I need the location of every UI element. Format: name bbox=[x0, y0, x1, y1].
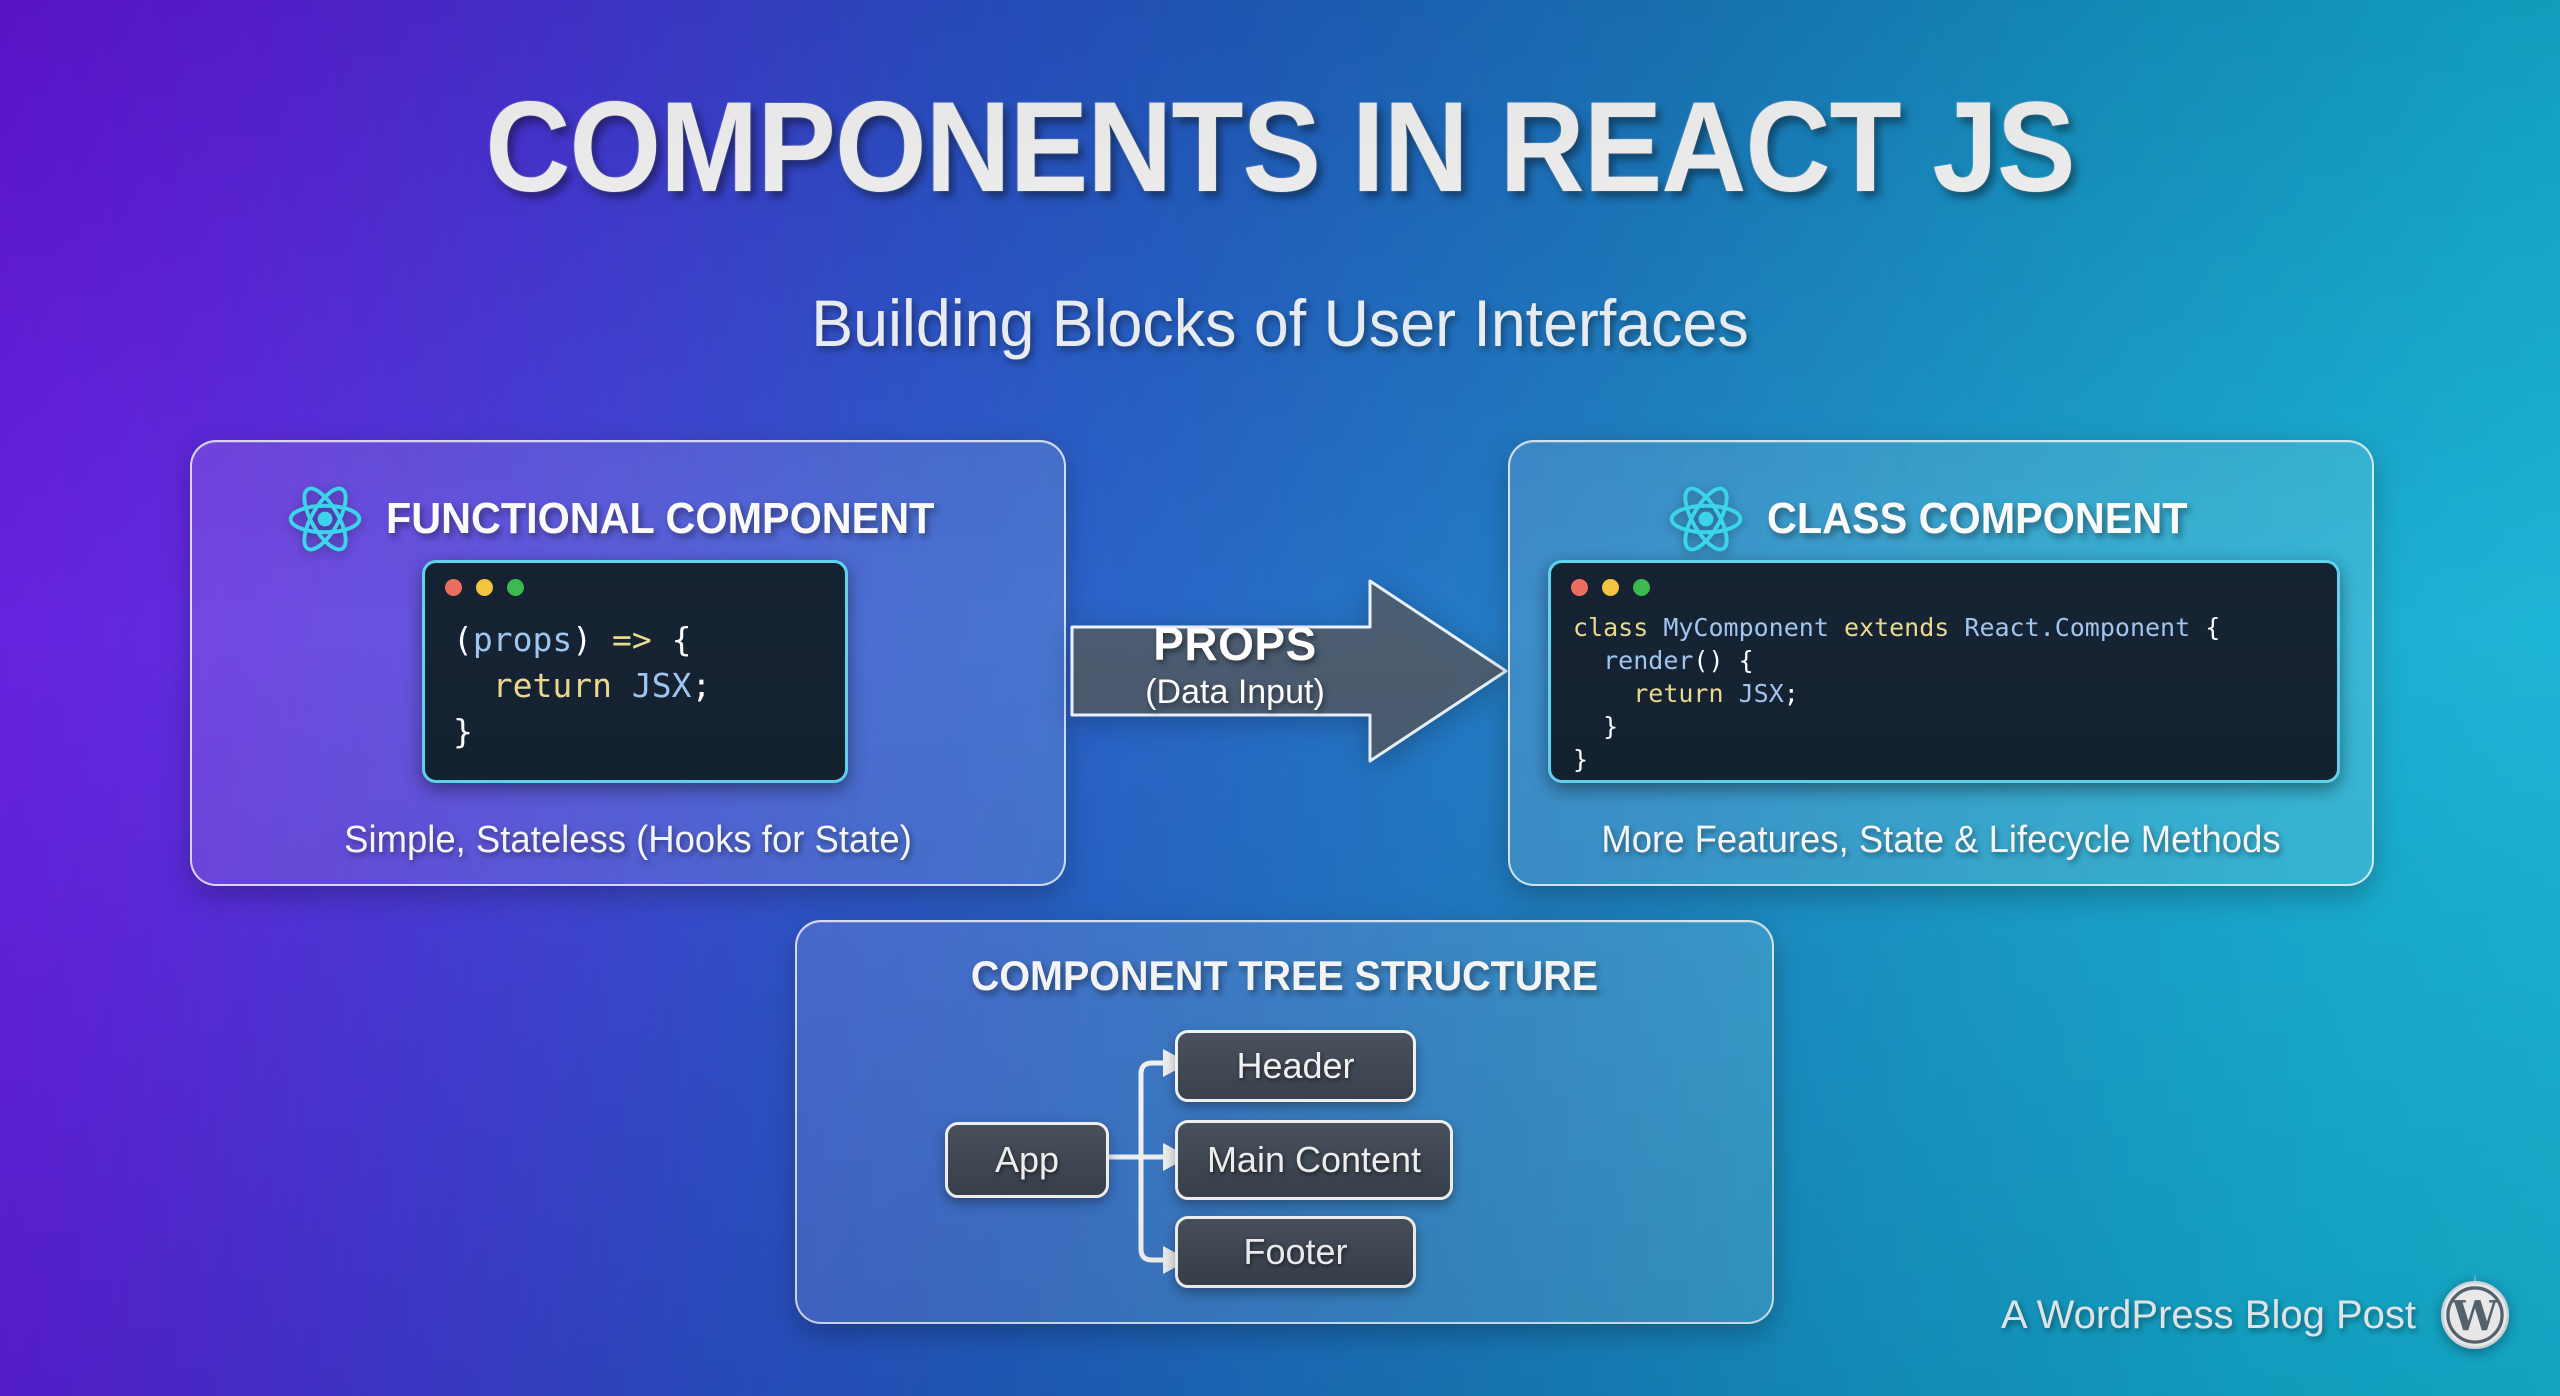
props-arrow: PROPS (Data Input) bbox=[1070, 565, 1510, 777]
functional-component-card: FUNCTIONAL COMPONENT (props) => { return… bbox=[190, 440, 1066, 886]
tree-node-app[interactable]: App bbox=[945, 1122, 1109, 1198]
props-arrow-labels: PROPS (Data Input) bbox=[1070, 617, 1400, 712]
infographic-canvas: COMPONENTS IN REACT JS Building Blocks o… bbox=[0, 0, 2560, 1396]
class-card-header: CLASS COMPONENT bbox=[1510, 480, 2372, 558]
component-tree-panel: COMPONENT TREE STRUCTURE bbox=[795, 920, 1774, 1324]
functional-code-text: (props) => { return JSX; } bbox=[453, 617, 835, 755]
window-traffic-lights bbox=[1571, 579, 1650, 596]
close-dot-icon bbox=[1571, 579, 1588, 596]
wordpress-badge-text: A WordPress Blog Post bbox=[2001, 1293, 2416, 1338]
window-traffic-lights bbox=[445, 579, 524, 596]
component-tree-title: COMPONENT TREE STRUCTURE bbox=[826, 952, 1743, 1000]
functional-card-caption: Simple, Stateless (Hooks for State) bbox=[209, 819, 1046, 862]
wordpress-logo-icon: W bbox=[2434, 1274, 2516, 1356]
class-code-text: class MyComponent extends React.Componen… bbox=[1573, 611, 2327, 776]
wordpress-badge: A WordPress Blog Post W bbox=[2001, 1274, 2516, 1356]
react-atom-icon bbox=[1667, 480, 1745, 558]
page-title: COMPONENTS IN REACT JS bbox=[102, 84, 2457, 212]
minimize-dot-icon bbox=[1602, 579, 1619, 596]
page-subtitle: Building Blocks of User Interfaces bbox=[64, 290, 2496, 356]
functional-card-header: FUNCTIONAL COMPONENT bbox=[192, 480, 1064, 558]
props-sublabel: (Data Input) bbox=[1070, 673, 1400, 712]
props-label: PROPS bbox=[1070, 617, 1400, 671]
functional-card-title: FUNCTIONAL COMPONENT bbox=[386, 494, 934, 544]
functional-code-window: (props) => { return JSX; } bbox=[422, 560, 848, 783]
maximize-dot-icon bbox=[507, 579, 524, 596]
class-code-window: class MyComponent extends React.Componen… bbox=[1548, 560, 2340, 783]
tree-node-header[interactable]: Header bbox=[1175, 1030, 1416, 1102]
class-component-card: CLASS COMPONENT class MyComponent extend… bbox=[1508, 440, 2374, 886]
minimize-dot-icon bbox=[476, 579, 493, 596]
component-tree-diagram: App Header Main Content Footer bbox=[797, 1022, 1772, 1312]
class-card-caption: More Features, State & Lifecycle Methods bbox=[1527, 819, 2355, 862]
react-atom-icon bbox=[286, 480, 364, 558]
svg-text:W: W bbox=[2451, 1292, 2499, 1340]
maximize-dot-icon bbox=[1633, 579, 1650, 596]
close-dot-icon bbox=[445, 579, 462, 596]
tree-node-footer[interactable]: Footer bbox=[1175, 1216, 1416, 1288]
tree-node-main-content[interactable]: Main Content bbox=[1175, 1120, 1453, 1200]
class-card-title: CLASS COMPONENT bbox=[1767, 494, 2188, 544]
